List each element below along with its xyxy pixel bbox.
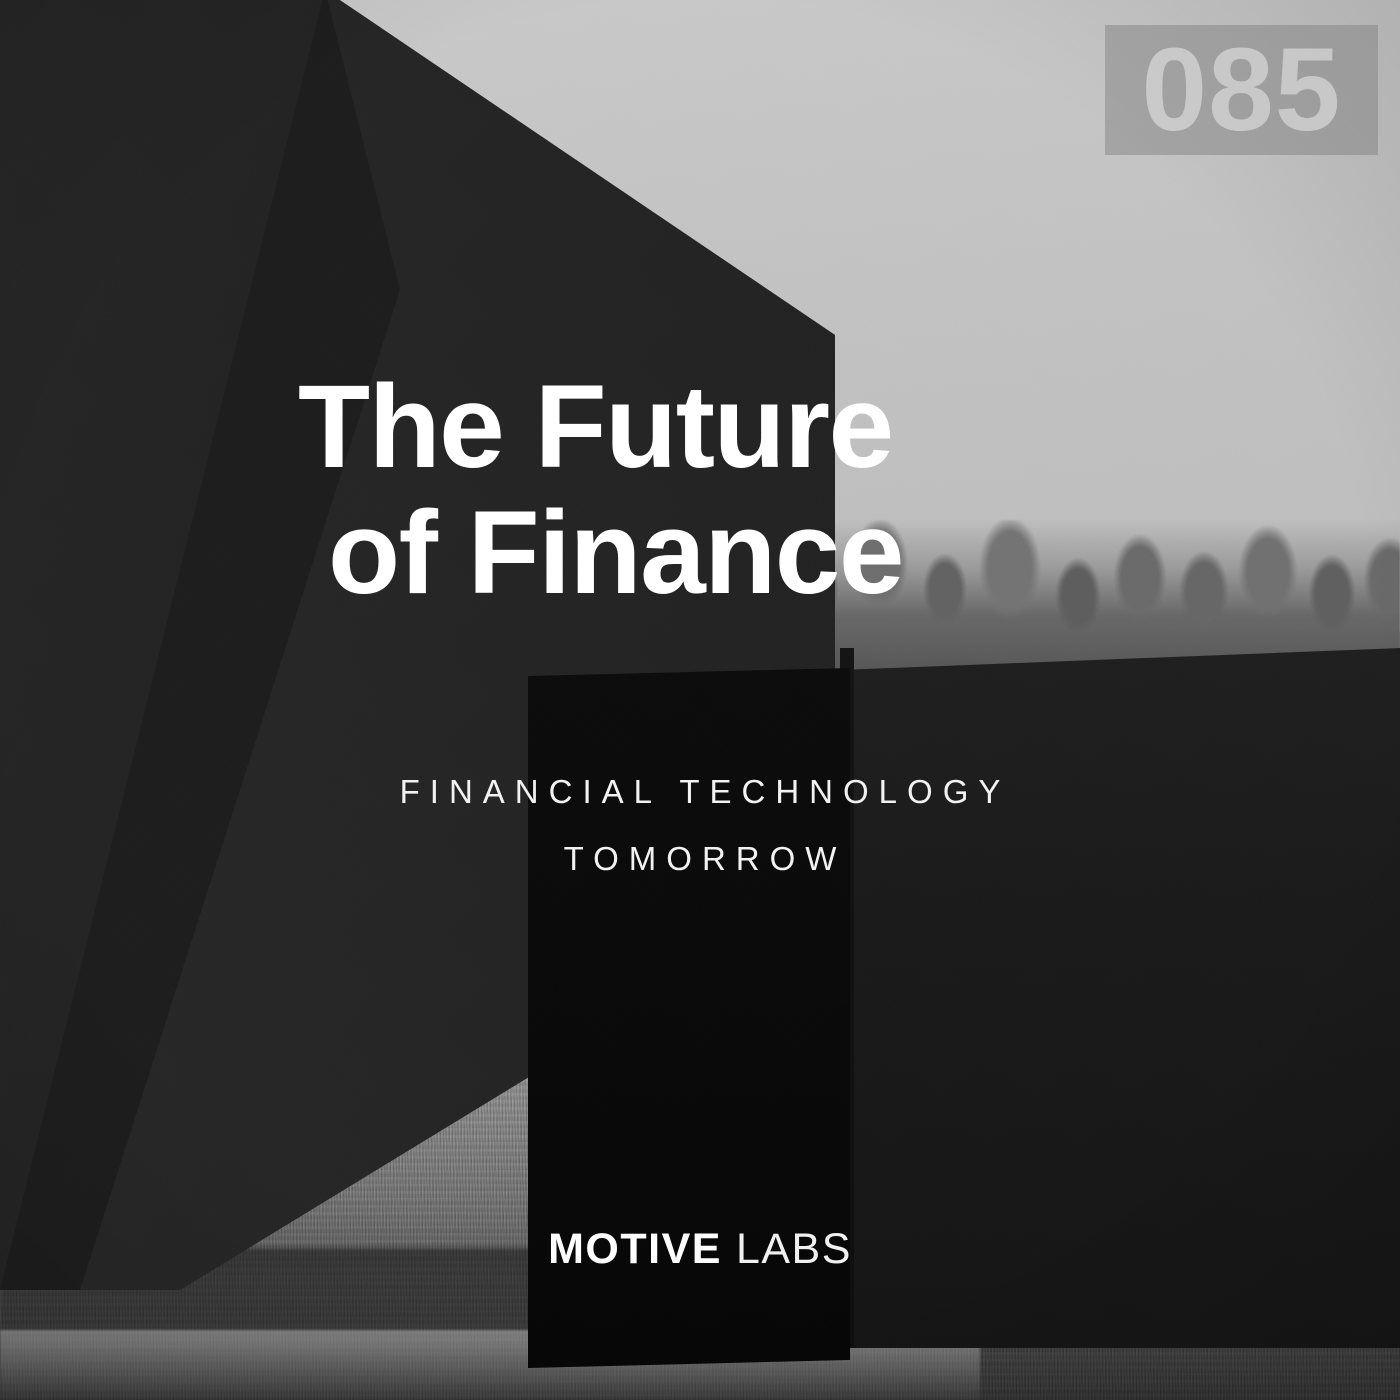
title-line-2: of Finance bbox=[298, 494, 1198, 612]
subtitle-line-2: TOMORROW bbox=[0, 842, 1400, 875]
issue-number-badge: 085 bbox=[1105, 25, 1378, 155]
poster-title: The Future of Finance bbox=[298, 368, 1198, 620]
poster-content: 085 The Future of Finance FINANCIAL TECH… bbox=[0, 0, 1400, 1400]
poster-subtitle: FINANCIAL TECHNOLOGY TOMORROW bbox=[0, 775, 1400, 909]
issue-number-text: 085 bbox=[1142, 31, 1342, 149]
title-line-1: The Future bbox=[298, 368, 1198, 486]
brand-name-primary: MOTIVE bbox=[548, 1225, 722, 1273]
subtitle-line-1: FINANCIAL TECHNOLOGY bbox=[0, 775, 1400, 808]
brand-name-secondary: LABS bbox=[736, 1225, 852, 1273]
brand-lockup: MOTIVELABS bbox=[0, 1225, 1400, 1274]
poster-canvas: 085 The Future of Finance FINANCIAL TECH… bbox=[0, 0, 1400, 1400]
